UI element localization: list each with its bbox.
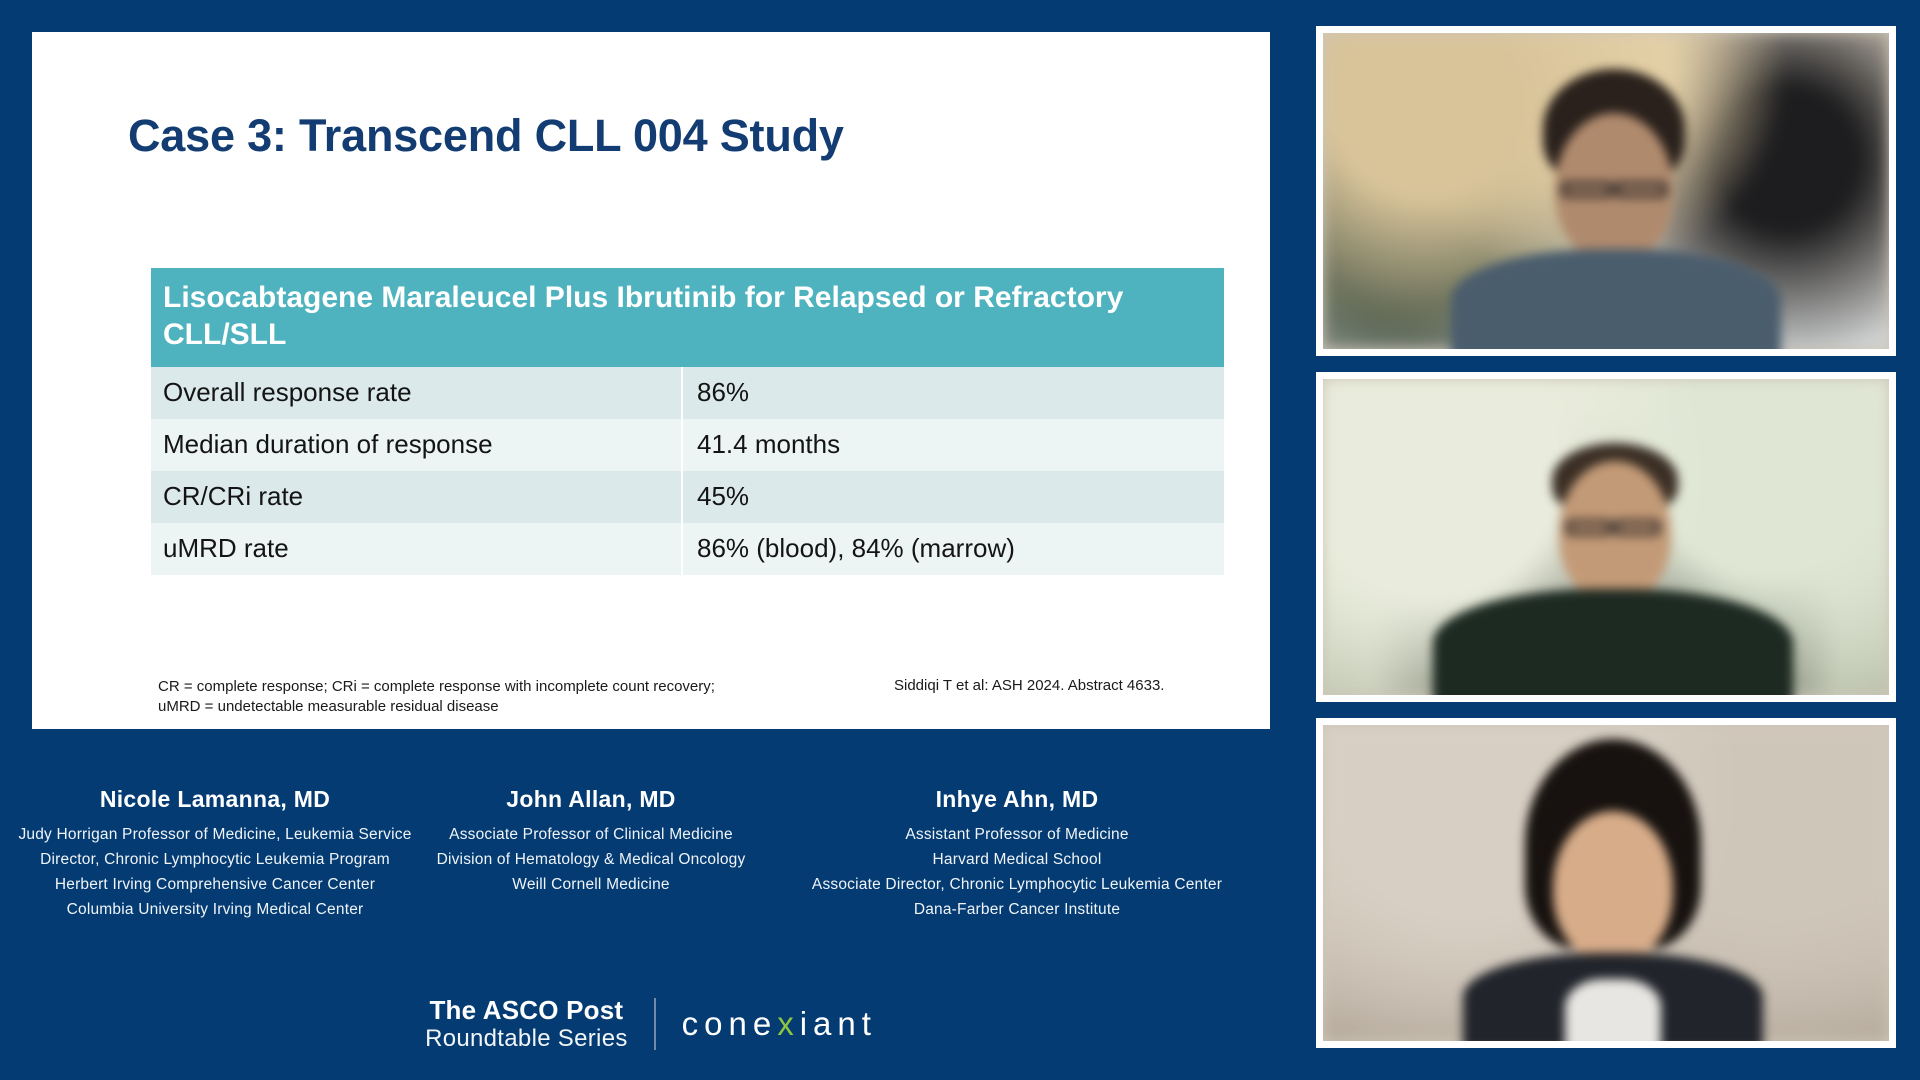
page-title: Case 3: Transcend CLL 004 Study [128, 110, 844, 162]
footnote-block: CR = complete response; CRi = complete r… [158, 677, 918, 718]
presentation-slide: Case 3: Transcend CLL 004 Study Lisocabt… [32, 32, 1270, 729]
webinar-screen: Case 3: Transcend CLL 004 Study Lisocabt… [0, 0, 1920, 1080]
glasses-icon [1561, 182, 1613, 197]
glasses-icon [1566, 520, 1612, 535]
presenter-affiliation: Weill Cornell Medicine [430, 872, 752, 897]
shirt-shape [1565, 979, 1661, 1041]
torso-shape [1433, 589, 1793, 695]
asco-post-title: The ASCO Post [425, 996, 628, 1025]
video-tile-allan[interactable] [1316, 372, 1896, 702]
video-tile-column [1316, 26, 1896, 1064]
conexiant-x-glyph: x [777, 1005, 800, 1042]
table-cell-label: Overall response rate [151, 367, 681, 419]
presenter-affiliation: Associate Director, Chronic Lymphocytic … [752, 872, 1282, 897]
presenter-credits: Nicole Lamanna, MD Judy Horrigan Profess… [0, 786, 1302, 922]
glasses-icon [1614, 520, 1660, 535]
conexiant-text-post: iant [800, 1005, 877, 1042]
presenter-block-ahn: Inhye Ahn, MD Assistant Professor of Med… [752, 786, 1282, 922]
presenter-affiliation: Herbert Irving Comprehensive Cancer Cent… [0, 872, 430, 897]
table-row: CR/CRi rate 45% [151, 471, 1224, 523]
table-cell-label: uMRD rate [151, 523, 681, 575]
table-cell-value: 86% (blood), 84% (marrow) [681, 523, 1224, 575]
video-feed[interactable] [1323, 379, 1889, 695]
presenter-affiliation: Director, Chronic Lymphocytic Leukemia P… [0, 847, 430, 872]
presenter-affiliation: Associate Professor of Clinical Medicine [430, 822, 752, 847]
logo-divider [654, 998, 656, 1050]
presenter-block-lamanna: Nicole Lamanna, MD Judy Horrigan Profess… [0, 786, 430, 922]
presenter-block-allan: John Allan, MD Associate Professor of Cl… [430, 786, 752, 922]
video-feed[interactable] [1323, 725, 1889, 1041]
table-row: Median duration of response 41.4 months [151, 419, 1224, 471]
presenter-name: Nicole Lamanna, MD [0, 786, 430, 813]
head-shape [1553, 811, 1673, 963]
conexiant-text-pre: cone [682, 1005, 778, 1042]
presenter-name: John Allan, MD [430, 786, 752, 813]
footnote-line: uMRD = undetectable measurable residual … [158, 697, 918, 717]
video-feed[interactable] [1323, 33, 1889, 349]
presenter-affiliation: Assistant Professor of Medicine [752, 822, 1282, 847]
footnote-line: CR = complete response; CRi = complete r… [158, 677, 918, 697]
table-header: Lisocabtagene Maraleucel Plus Ibrutinib … [151, 268, 1224, 367]
presenter-affiliation: Harvard Medical School [752, 847, 1282, 872]
table-cell-value: 41.4 months [681, 419, 1224, 471]
branding-bar: The ASCO Post Roundtable Series conexian… [0, 996, 1302, 1052]
torso-shape [1451, 249, 1781, 349]
presenter-name: Inhye Ahn, MD [752, 786, 1282, 813]
presenter-affiliation: Division of Hematology & Medical Oncolog… [430, 847, 752, 872]
table-row: uMRD rate 86% (blood), 84% (marrow) [151, 523, 1224, 575]
video-tile-ahn[interactable] [1316, 718, 1896, 1048]
conexiant-logo: conexiant [682, 1005, 877, 1043]
presenter-affiliation: Dana-Farber Cancer Institute [752, 897, 1282, 922]
asco-post-logo: The ASCO Post Roundtable Series [425, 996, 628, 1052]
glasses-icon [1615, 182, 1667, 197]
presenter-affiliation: Columbia University Irving Medical Cente… [0, 897, 430, 922]
results-table: Lisocabtagene Maraleucel Plus Ibrutinib … [151, 268, 1224, 575]
table-cell-label: Median duration of response [151, 419, 681, 471]
table-cell-label: CR/CRi rate [151, 471, 681, 523]
table-row: Overall response rate 86% [151, 367, 1224, 419]
presenter-affiliation: Judy Horrigan Professor of Medicine, Leu… [0, 822, 430, 847]
video-tile-lamanna[interactable] [1316, 26, 1896, 356]
table-cell-value: 86% [681, 367, 1224, 419]
asco-post-subtitle: Roundtable Series [425, 1025, 628, 1052]
citation: Siddiqi T et al: ASH 2024. Abstract 4633… [894, 677, 1164, 694]
table-cell-value: 45% [681, 471, 1224, 523]
